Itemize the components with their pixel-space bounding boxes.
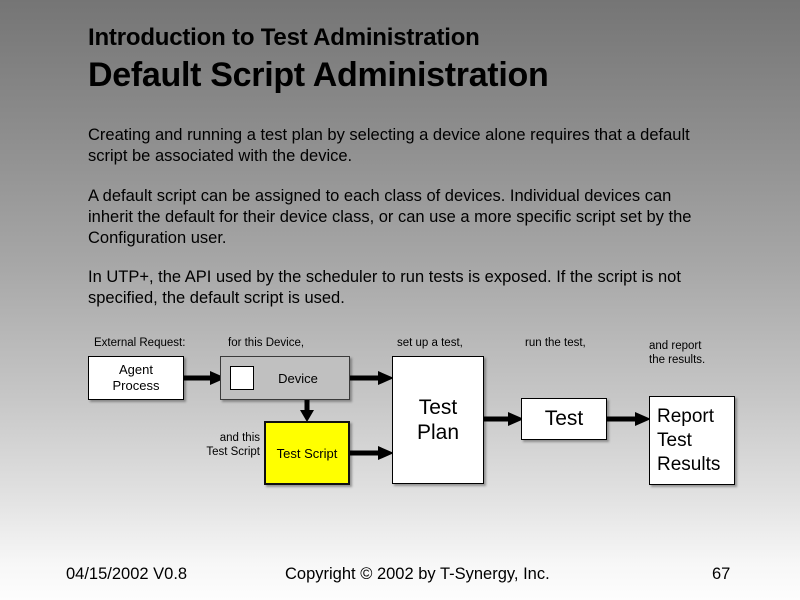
node-report-test-results[interactable]: Report Test Results (649, 396, 735, 485)
footer-date-version: 04/15/2002 V0.8 (66, 565, 187, 584)
device-indicator-icon (230, 366, 254, 390)
node-agent-process[interactable]: Agent Process (88, 356, 184, 400)
slide-canvas: Introduction to Test Administration Defa… (0, 0, 800, 600)
caption-and-this-test-script: and this Test Script (204, 432, 260, 459)
arrow-test-plan-to-test (484, 412, 524, 426)
node-test[interactable]: Test (521, 398, 607, 440)
node-device-label: Device (278, 371, 318, 386)
node-test-plan[interactable]: Test Plan (392, 356, 484, 484)
arrow-device-to-test-plan (350, 371, 394, 385)
arrow-test-to-report (607, 412, 651, 426)
arrow-device-to-test-script (300, 400, 314, 422)
flow-diagram: External Request: for this Device, set u… (0, 0, 800, 600)
footer-page-number: 67 (712, 565, 730, 584)
footer-copyright: Copyright © 2002 by T-Synergy, Inc. (285, 565, 550, 584)
node-test-script[interactable]: Test Script (264, 421, 350, 485)
node-device[interactable]: Device (220, 356, 350, 400)
caption-and-report-the-results: and report the results. (649, 340, 705, 367)
caption-external-request: External Request: (94, 337, 185, 351)
caption-run-the-test: run the test, (525, 337, 586, 351)
caption-for-this-device: for this Device, (228, 337, 304, 351)
arrow-test-script-to-test-plan (350, 446, 394, 460)
caption-set-up-a-test: set up a test, (397, 337, 463, 351)
